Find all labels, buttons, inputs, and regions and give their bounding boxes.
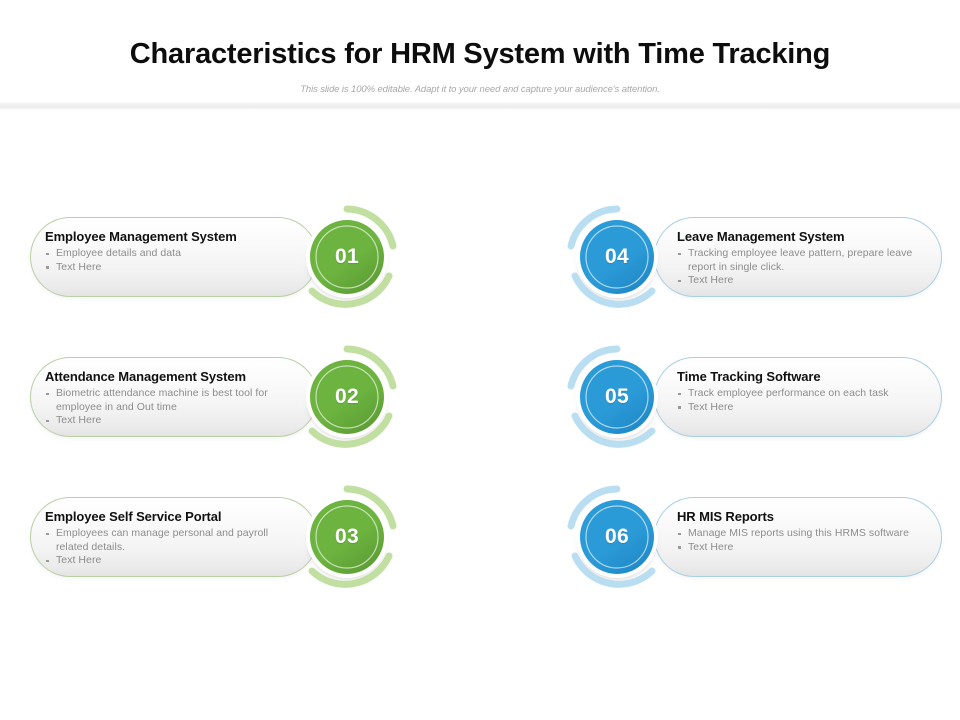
item-bullet-list: Biometric attendance machine is best too… bbox=[45, 387, 295, 428]
item-number-badge[interactable]: 04 bbox=[562, 202, 672, 312]
item-bullet: Text Here bbox=[677, 401, 927, 415]
item-number-label: 03 bbox=[292, 482, 402, 592]
characteristic-item[interactable]: Employee Management SystemEmployee detai… bbox=[24, 202, 424, 312]
item-bullet: Manage MIS reports using this HRMS softw… bbox=[677, 527, 927, 541]
page-subtitle: This slide is 100% editable. Adapt it to… bbox=[0, 84, 960, 95]
item-bullet-list: Track employee performance on each taskT… bbox=[677, 387, 927, 414]
item-number-label: 06 bbox=[562, 482, 672, 592]
item-bullet: Text Here bbox=[45, 414, 295, 428]
item-card[interactable]: Time Tracking SoftwareTrack employee per… bbox=[654, 357, 942, 437]
page-title: Characteristics for HRM System with Time… bbox=[0, 38, 960, 71]
item-number-label: 04 bbox=[562, 202, 672, 312]
item-bullet: Text Here bbox=[677, 274, 927, 288]
item-bullet: Tracking employee leave pattern, prepare… bbox=[677, 247, 927, 274]
item-number-label: 02 bbox=[292, 342, 402, 452]
item-card-body: Leave Management SystemTracking employee… bbox=[677, 229, 927, 288]
item-title: Time Tracking Software bbox=[677, 369, 927, 385]
item-card[interactable]: HR MIS ReportsManage MIS reports using t… bbox=[654, 497, 942, 577]
item-bullet-list: Tracking employee leave pattern, prepare… bbox=[677, 247, 927, 288]
characteristic-item[interactable]: Employee Self Service PortalEmployees ca… bbox=[24, 482, 424, 592]
item-number-label: 01 bbox=[292, 202, 402, 312]
item-number-badge[interactable]: 03 bbox=[292, 482, 402, 592]
item-card[interactable]: Employee Management SystemEmployee detai… bbox=[30, 217, 318, 297]
characteristic-item[interactable]: Attendance Management SystemBiometric at… bbox=[24, 342, 424, 452]
item-number-badge[interactable]: 01 bbox=[292, 202, 402, 312]
header-divider bbox=[0, 101, 960, 110]
item-bullet: Text Here bbox=[677, 541, 927, 555]
item-bullet-list: Manage MIS reports using this HRMS softw… bbox=[677, 527, 927, 554]
characteristics-board: Employee Management SystemEmployee detai… bbox=[0, 110, 960, 720]
item-bullet: Text Here bbox=[45, 554, 295, 568]
item-card-body: Employee Management SystemEmployee detai… bbox=[45, 229, 295, 274]
characteristic-item[interactable]: Time Tracking SoftwareTrack employee per… bbox=[550, 342, 950, 452]
slide-header: Characteristics for HRM System with Time… bbox=[0, 0, 960, 104]
characteristic-item[interactable]: HR MIS ReportsManage MIS reports using t… bbox=[550, 482, 950, 592]
item-title: Employee Management System bbox=[45, 229, 295, 245]
item-title: HR MIS Reports bbox=[677, 509, 927, 525]
item-bullet-list: Employee details and dataText Here bbox=[45, 247, 295, 274]
item-title: Employee Self Service Portal bbox=[45, 509, 295, 525]
item-bullet: Text Here bbox=[45, 261, 295, 275]
item-card-body: Employee Self Service PortalEmployees ca… bbox=[45, 509, 295, 568]
item-card[interactable]: Leave Management SystemTracking employee… bbox=[654, 217, 942, 297]
item-bullet: Employees can manage personal and payrol… bbox=[45, 527, 295, 554]
item-bullet: Track employee performance on each task bbox=[677, 387, 927, 401]
item-bullet: Biometric attendance machine is best too… bbox=[45, 387, 295, 414]
item-bullet-list: Employees can manage personal and payrol… bbox=[45, 527, 295, 568]
item-card[interactable]: Attendance Management SystemBiometric at… bbox=[30, 357, 318, 437]
characteristic-item[interactable]: Leave Management SystemTracking employee… bbox=[550, 202, 950, 312]
item-card[interactable]: Employee Self Service PortalEmployees ca… bbox=[30, 497, 318, 577]
item-card-body: Attendance Management SystemBiometric at… bbox=[45, 369, 295, 428]
item-bullet: Employee details and data bbox=[45, 247, 295, 261]
item-number-badge[interactable]: 05 bbox=[562, 342, 672, 452]
item-card-body: HR MIS ReportsManage MIS reports using t… bbox=[677, 509, 927, 554]
item-number-badge[interactable]: 06 bbox=[562, 482, 672, 592]
item-title: Attendance Management System bbox=[45, 369, 295, 385]
item-number-label: 05 bbox=[562, 342, 672, 452]
item-number-badge[interactable]: 02 bbox=[292, 342, 402, 452]
item-title: Leave Management System bbox=[677, 229, 927, 245]
item-card-body: Time Tracking SoftwareTrack employee per… bbox=[677, 369, 927, 414]
